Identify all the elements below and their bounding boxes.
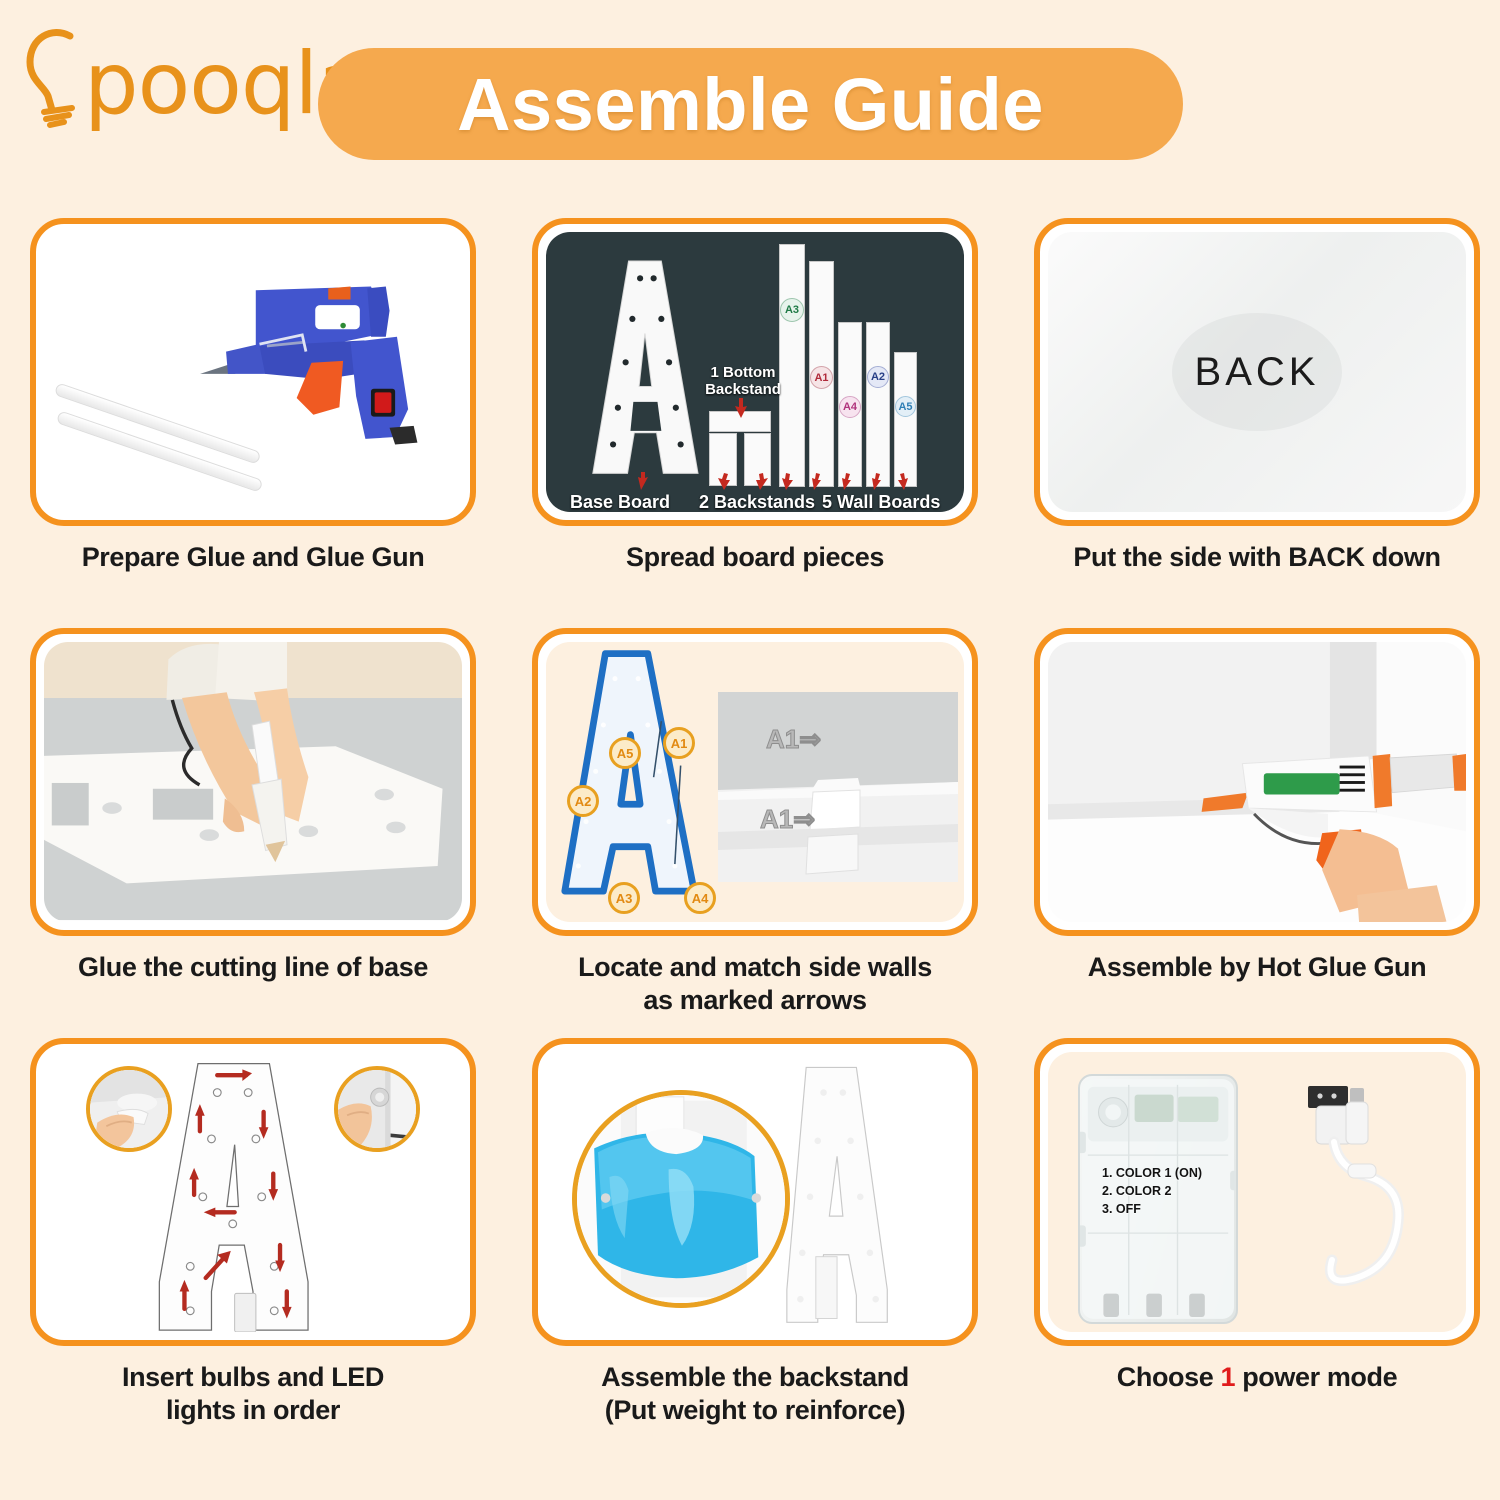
step-1-caption: Prepare Glue and Glue Gun bbox=[23, 541, 483, 574]
badge-a3: A3 bbox=[780, 298, 804, 322]
label-wall-boards: 5 Wall Boards bbox=[822, 492, 940, 512]
wall-board-a2 bbox=[866, 322, 890, 487]
label-base-board: Base Board bbox=[570, 492, 670, 512]
step-card-5: A1 A5 A2 A3 A4 bbox=[532, 628, 978, 1038]
page-title: Assemble Guide bbox=[457, 62, 1044, 147]
step-1-image-frame bbox=[30, 218, 476, 526]
side-wall-photo-illustration bbox=[718, 692, 958, 882]
badge-a5: A5 bbox=[895, 396, 916, 417]
step-7-image-frame bbox=[30, 1038, 476, 1346]
backstand-piece-lower-2 bbox=[744, 433, 771, 486]
letter-a-wall-map: A1 A5 A2 A3 A4 bbox=[546, 642, 964, 922]
steps-grid: Prepare Glue and Glue Gun bbox=[30, 218, 1480, 1478]
step-card-4: Glue the cutting line of base bbox=[30, 628, 476, 1038]
step-9-caption-post: power mode bbox=[1235, 1362, 1397, 1392]
step-5-caption: Locate and match side walls as marked ar… bbox=[525, 951, 985, 1017]
step-8-image-frame bbox=[532, 1038, 978, 1346]
page-header: pooqla Assemble Guide bbox=[0, 0, 1500, 190]
step-6-caption: Assemble by Hot Glue Gun bbox=[1027, 951, 1487, 984]
backstand-piece-lower bbox=[709, 433, 737, 486]
battery-box: 1. COLOR 1 (ON) 2. COLOR 2 3. OFF bbox=[1078, 1074, 1238, 1324]
gluing-base-illustration bbox=[44, 642, 462, 922]
photo-a1-mark-bottom: A1⇒ bbox=[760, 804, 815, 835]
hot-glue-gun-photo bbox=[1048, 642, 1466, 922]
badge-a2: A2 bbox=[867, 366, 889, 388]
glue-gun-icon bbox=[44, 232, 462, 512]
back-label-text: BACK bbox=[1195, 350, 1320, 395]
step-2-caption: Spread board pieces bbox=[525, 541, 985, 574]
step-9-caption-pre: Choose bbox=[1117, 1362, 1221, 1392]
weight-bag-inset bbox=[572, 1090, 790, 1308]
step-7-caption: Insert bulbs and LED lights in order bbox=[23, 1361, 483, 1427]
step-9-caption: Choose 1 power mode bbox=[1027, 1361, 1487, 1394]
badge-a4: A4 bbox=[839, 396, 861, 418]
step-card-2: A3 A1 A4 A2 A5 1 Bottom Backstand bbox=[532, 218, 978, 628]
step-2-image-frame: A3 A1 A4 A2 A5 1 Bottom Backstand bbox=[532, 218, 978, 526]
inset-photo-bulb bbox=[90, 1070, 168, 1148]
glue-gun-scene bbox=[44, 232, 462, 512]
power-mode-list: 1. COLOR 1 (ON) 2. COLOR 2 3. OFF bbox=[1102, 1164, 1202, 1218]
step-card-9: 1. COLOR 1 (ON) 2. COLOR 2 3. OFF bbox=[1034, 1038, 1480, 1478]
step-5-image-frame: A1 A5 A2 A3 A4 bbox=[532, 628, 978, 936]
step-card-3: BACK Put the side with BACK down bbox=[1034, 218, 1480, 628]
weight-bag-illustration bbox=[577, 1095, 785, 1303]
step-3-image-frame: BACK bbox=[1034, 218, 1480, 526]
step-card-7: Insert bulbs and LED lights in order bbox=[30, 1038, 476, 1478]
step-3-caption: Put the side with BACK down bbox=[1027, 541, 1487, 574]
battery-box-and-usb: 1. COLOR 1 (ON) 2. COLOR 2 3. OFF bbox=[1048, 1052, 1466, 1332]
label-backstands: 2 Backstands bbox=[699, 492, 815, 512]
step-4-caption: Glue the cutting line of base bbox=[23, 951, 483, 984]
wall-board-a5 bbox=[894, 352, 917, 487]
step-9-image-frame: 1. COLOR 1 (ON) 2. COLOR 2 3. OFF bbox=[1034, 1038, 1480, 1346]
led-wire-insert-inset bbox=[334, 1066, 420, 1152]
step-card-1: Prepare Glue and Glue Gun bbox=[30, 218, 476, 628]
step-6-image-frame bbox=[1034, 628, 1480, 936]
wall-board-a3 bbox=[779, 244, 805, 487]
led-insert-order bbox=[44, 1052, 462, 1332]
hot-glue-gun-illustration bbox=[1048, 642, 1466, 922]
step-9-caption-highlight: 1 bbox=[1220, 1362, 1235, 1392]
title-banner: Assemble Guide bbox=[318, 48, 1183, 160]
led-bulb-insert-inset bbox=[86, 1066, 172, 1152]
wall-badge-a1: A1 bbox=[663, 727, 695, 759]
gluing-base-photo bbox=[44, 642, 462, 922]
photo-a1-mark-top: A1⇒ bbox=[766, 724, 821, 755]
step-card-8: Assemble the backstand (Put weight to re… bbox=[532, 1038, 978, 1478]
arrow-bottom-backstand-icon bbox=[734, 398, 748, 418]
usb-cable-icon bbox=[1294, 1072, 1444, 1302]
back-label-board: BACK bbox=[1048, 232, 1466, 512]
step-8-caption: Assemble the backstand (Put weight to re… bbox=[525, 1361, 985, 1427]
wall-badge-a5: A5 bbox=[609, 737, 641, 769]
label-bottom-backstand: 1 Bottom Backstand bbox=[704, 364, 782, 399]
side-wall-photo: A1⇒ A1⇒ bbox=[718, 692, 958, 882]
wall-badge-a4: A4 bbox=[684, 882, 716, 914]
step-4-image-frame bbox=[30, 628, 476, 936]
wall-badge-a2: A2 bbox=[567, 785, 599, 817]
step-card-6: Assemble by Hot Glue Gun bbox=[1034, 628, 1480, 1038]
wall-badge-a3: A3 bbox=[608, 882, 640, 914]
backstand-photo bbox=[546, 1052, 964, 1332]
badge-a1: A1 bbox=[810, 366, 833, 389]
inset-photo-socket bbox=[338, 1070, 416, 1148]
brand-logo: pooqla bbox=[22, 16, 312, 136]
board-pieces-diagram: A3 A1 A4 A2 A5 1 Bottom Backstand bbox=[546, 232, 964, 512]
